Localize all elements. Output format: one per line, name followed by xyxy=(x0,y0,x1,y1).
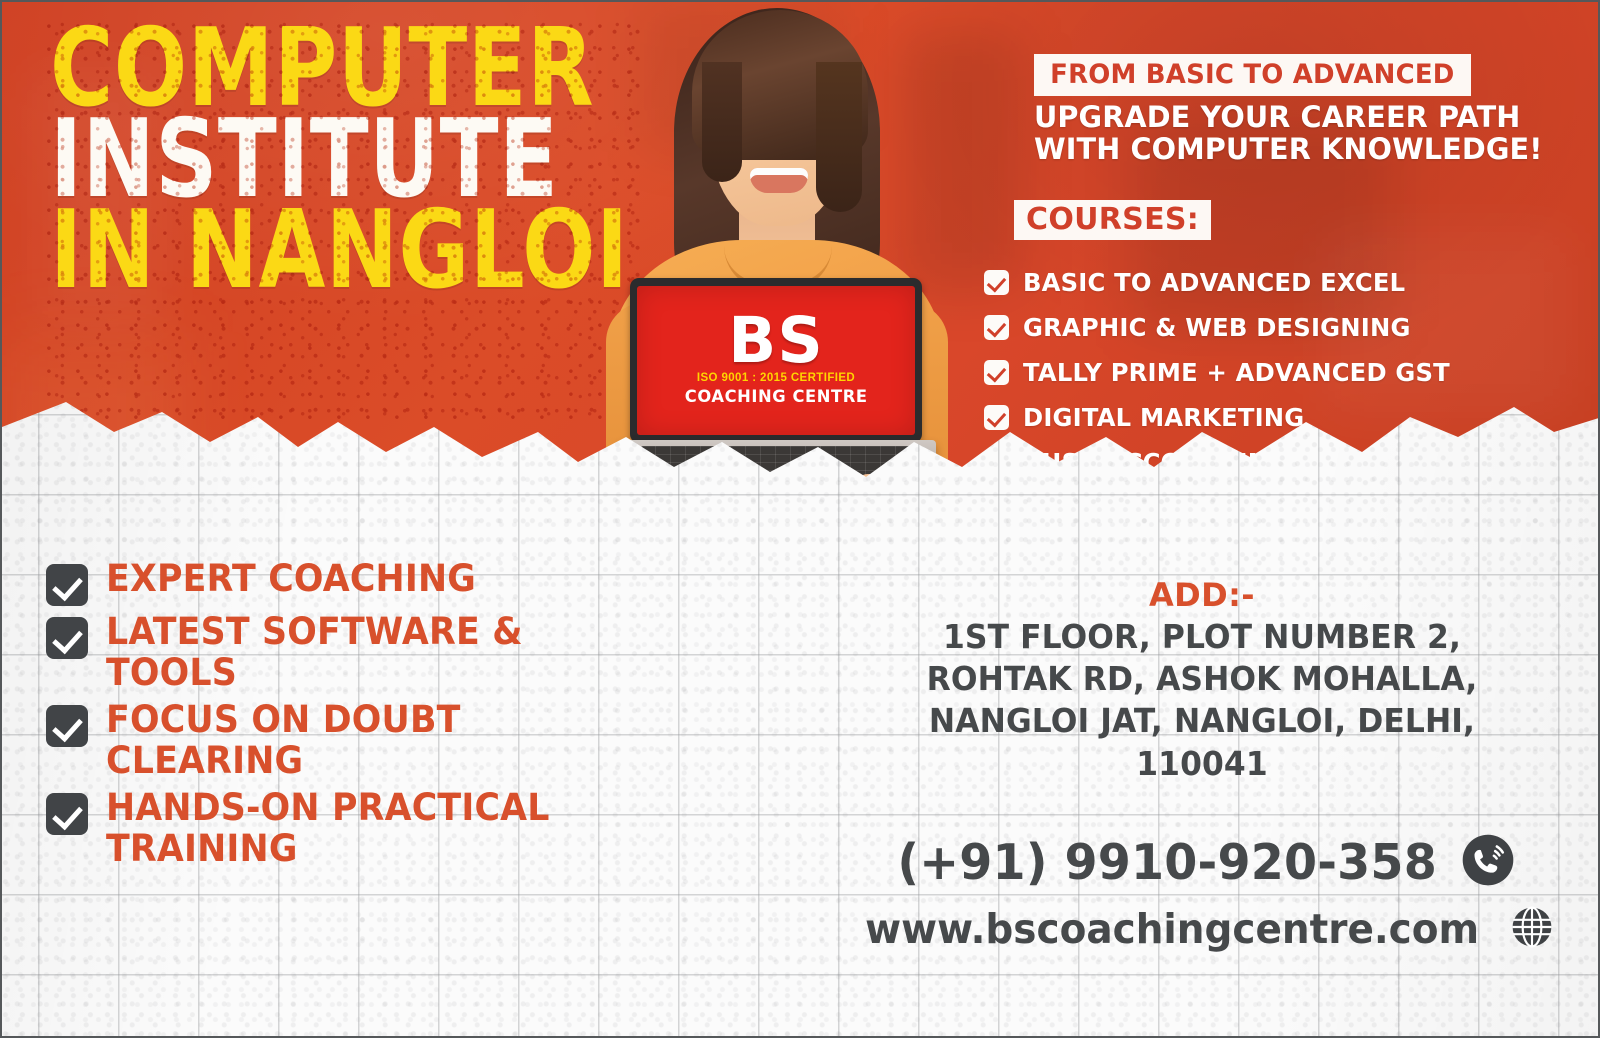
phone-number[interactable]: (+91) 9910-920-358 xyxy=(897,834,1437,891)
mouth xyxy=(750,168,808,193)
course-label: TALLY PRIME + ADVANCED GST xyxy=(1023,358,1450,387)
hair-front xyxy=(692,10,868,160)
laptop-screen-logo: BS ISO 9001 : 2015 CERTIFIED COACHING CE… xyxy=(637,286,915,435)
courses-heading-label: COURSES: xyxy=(1026,202,1199,237)
poster-headline: COMPUTER INSTITUTE IN NANGLOI xyxy=(50,20,630,300)
check-icon xyxy=(984,405,1009,430)
address-line: 110041 xyxy=(879,743,1525,785)
course-label: DIGITAL MARKETING xyxy=(1023,403,1304,432)
feature-item: EXPERT COACHING xyxy=(46,558,656,606)
feature-label: EXPERT COACHING xyxy=(106,558,476,599)
address-line: ROHTAK RD, ASHOK MOHALLA, xyxy=(879,658,1525,700)
check-icon xyxy=(984,360,1009,385)
address-line: NANGLOI JAT, NANGLOI, DELHI, xyxy=(879,700,1525,742)
phone-row[interactable]: (+91) 9910-920-358 xyxy=(862,833,1542,892)
features-list: EXPERT COACHING LATEST SOFTWARE & TOOLS … xyxy=(46,558,656,875)
course-item: TALLY PRIME + ADVANCED GST xyxy=(984,350,1584,395)
course-item: BASIC TO ADVANCED EXCEL xyxy=(984,260,1584,305)
tagline-badge-label: FROM BASIC TO ADVANCED xyxy=(1050,59,1454,90)
globe-icon xyxy=(1509,904,1555,955)
logo-certification: ISO 9001 : 2015 CERTIFIED xyxy=(697,372,855,384)
tagline-badge: FROM BASIC TO ADVANCED xyxy=(1034,54,1471,96)
subheadline: UPGRADE YOUR CAREER PATH WITH COMPUTER K… xyxy=(1034,102,1579,166)
subheadline-line-1: UPGRADE YOUR CAREER PATH xyxy=(1034,102,1574,134)
course-label: GRAPHIC & WEB DESIGNING xyxy=(1023,313,1411,342)
feature-label: LATEST SOFTWARE & TOOLS xyxy=(106,611,623,694)
laptop-lid: BS ISO 9001 : 2015 CERTIFIED COACHING CE… xyxy=(630,278,922,443)
feature-item: FOCUS ON DOUBT CLEARING xyxy=(46,699,656,782)
feature-item: LATEST SOFTWARE & TOOLS xyxy=(46,611,656,694)
address-label: ADD:- xyxy=(862,576,1542,614)
check-icon xyxy=(46,564,88,606)
website-row[interactable]: www.bscoachingcentre.com xyxy=(862,904,1542,955)
logo-initials: BS xyxy=(728,314,823,368)
phone-call-icon xyxy=(1461,833,1515,892)
subheadline-line-2: WITH COMPUTER KNOWLEDGE! xyxy=(1034,134,1574,166)
check-icon xyxy=(984,270,1009,295)
check-icon xyxy=(46,705,88,747)
courses-heading: COURSES: xyxy=(1014,200,1211,240)
contact-block: ADD:- 1ST FLOOR, PLOT NUMBER 2, ROHTAK R… xyxy=(862,576,1542,955)
feature-item: HANDS-ON PRACTICAL TRAINING xyxy=(46,787,656,870)
address-text: 1ST FLOOR, PLOT NUMBER 2, ROHTAK RD, ASH… xyxy=(879,616,1525,785)
check-icon xyxy=(46,617,88,659)
check-icon xyxy=(984,315,1009,340)
student-photo: BS ISO 9001 : 2015 CERTIFIED COACHING CE… xyxy=(600,2,950,502)
logo-name: COACHING CENTRE xyxy=(685,387,868,407)
website-url[interactable]: www.bscoachingcentre.com xyxy=(865,905,1479,953)
check-icon xyxy=(46,793,88,835)
headline-line-3: IN NANGLOI xyxy=(50,202,514,299)
promotional-poster: COMPUTER INSTITUTE IN NANGLOI xyxy=(0,0,1600,1038)
feature-label: FOCUS ON DOUBT CLEARING xyxy=(106,699,623,782)
course-item: GRAPHIC & WEB DESIGNING xyxy=(984,305,1584,350)
course-label: BASIC TO ADVANCED EXCEL xyxy=(1023,268,1405,297)
feature-label: HANDS-ON PRACTICAL TRAINING xyxy=(106,787,623,870)
address-line: 1ST FLOOR, PLOT NUMBER 2, xyxy=(879,616,1525,658)
